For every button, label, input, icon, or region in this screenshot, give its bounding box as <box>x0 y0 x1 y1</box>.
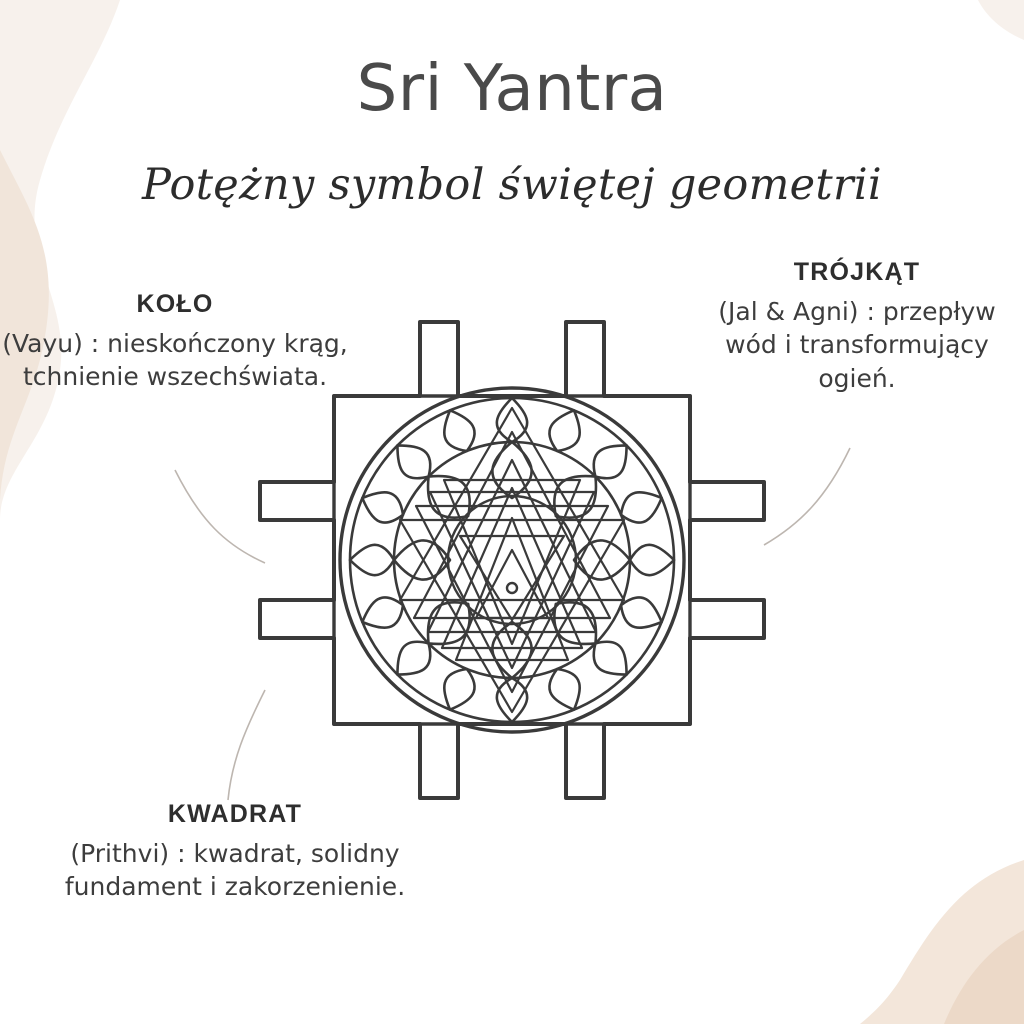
central-bindu <box>507 583 517 593</box>
outer-circle <box>340 388 684 732</box>
leader-line-trojkat <box>764 448 850 545</box>
inner-square <box>334 396 690 724</box>
page-title: Sri Yantra <box>0 52 1024 126</box>
infographic-stage: Sri Yantra Potężny symbol świętej geomet… <box>0 0 1024 1024</box>
sixteen-petal-lotus <box>350 398 674 722</box>
sri-yantra-diagram <box>252 300 772 820</box>
interlocking-triangles <box>400 408 624 712</box>
annotation-kwadrat-body: (Prithvi) : kwadrat, solidny fundament i… <box>20 837 450 904</box>
page-subtitle: Potężny symbol świętej geometrii <box>0 160 1024 210</box>
annotation-trojkat-heading: TRÓJKĄT <box>690 258 1024 287</box>
